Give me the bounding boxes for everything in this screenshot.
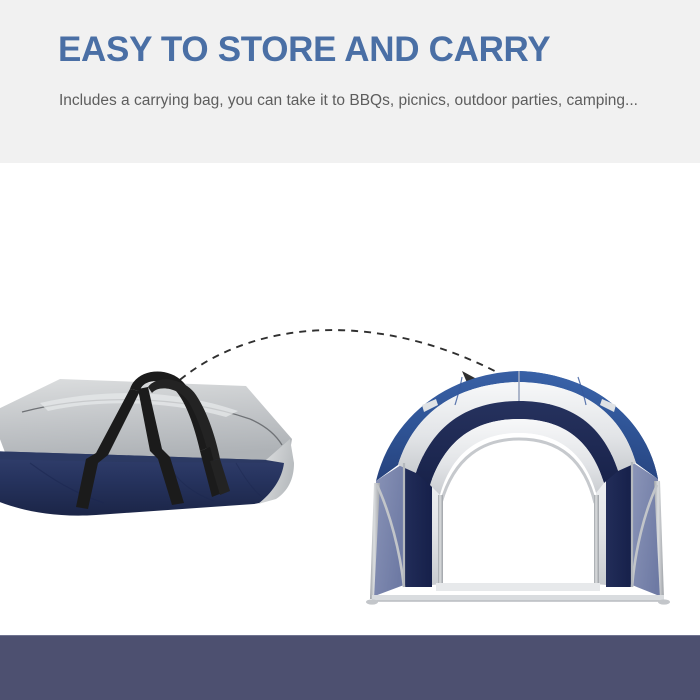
gazebo-foot-left bbox=[366, 599, 378, 604]
page-subtitle: Includes a carrying bag, you can take it… bbox=[59, 88, 659, 114]
dome-canopy-gazebo bbox=[366, 371, 670, 605]
outsunny-logo: Outsunny bbox=[82, 585, 177, 624]
gazebo-base-rail bbox=[372, 595, 664, 601]
illustration-svg: Outsunny bbox=[0, 163, 700, 635]
outsunny-wordmark: Outsunny bbox=[90, 603, 177, 624]
footer-band bbox=[0, 635, 700, 700]
product-illustration-stage: Outsunny bbox=[0, 163, 700, 635]
gazebo-leg-front-right bbox=[594, 495, 599, 591]
product-feature-panel: EASY TO STORE AND CARRY Includes a carry… bbox=[0, 0, 700, 700]
page-title: EASY TO STORE AND CARRY bbox=[58, 30, 658, 70]
gazebo-foot-right bbox=[658, 599, 670, 604]
gazebo-leg-front-left bbox=[438, 495, 443, 591]
header-band: EASY TO STORE AND CARRY Includes a carry… bbox=[0, 0, 700, 163]
gazebo-base-bar bbox=[436, 583, 600, 591]
gazebo-interior bbox=[440, 433, 596, 587]
outsunny-carry-bag: Outsunny bbox=[0, 372, 294, 624]
